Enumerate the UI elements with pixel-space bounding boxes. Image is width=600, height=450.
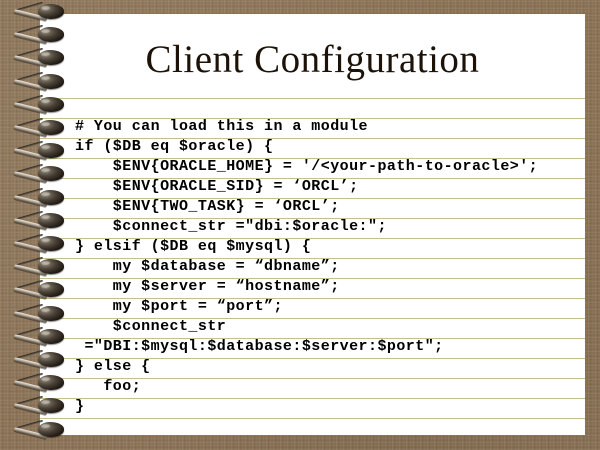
ring-wire-shadow <box>14 71 43 81</box>
code-line: $ENV{TWO_TASK} = ‘ORCL’; <box>75 197 585 217</box>
slide-canvas: Client Configuration # You can load this… <box>0 0 600 450</box>
page-title: Client Configuration <box>40 37 585 83</box>
ring-wire-shadow <box>14 350 43 360</box>
code-line: $ENV{ORACLE_HOME} = '/<your-path-to-orac… <box>75 157 585 177</box>
ring-wire-shadow <box>14 95 43 105</box>
code-line: ="DBI:$mysql:$database:$server:$port"; <box>75 337 585 357</box>
ring-wire-shadow <box>14 48 43 58</box>
code-block: # You can load this in a moduleif ($DB e… <box>75 117 585 417</box>
ruled-line <box>40 98 585 99</box>
ruled-line <box>40 418 585 419</box>
ring-wire-shadow <box>14 373 43 383</box>
code-line: $connect_str <box>75 317 585 337</box>
code-line: # You can load this in a module <box>75 117 585 137</box>
code-line: foo; <box>75 377 585 397</box>
ring-wire-shadow <box>14 164 43 174</box>
ring-wire-shadow <box>14 2 43 12</box>
code-line: $connect_str ="dbi:$oracle:"; <box>75 217 585 237</box>
code-line: my $database = “dbname”; <box>75 257 585 277</box>
notebook-page: Client Configuration # You can load this… <box>40 14 585 435</box>
ring-wire-shadow <box>14 280 43 290</box>
ring-wire-shadow <box>14 327 43 337</box>
ring-wire-shadow <box>14 211 43 221</box>
ring-wire-shadow <box>14 25 43 35</box>
code-line: } else { <box>75 357 585 377</box>
ring-head-highlight <box>41 6 50 10</box>
ring-wire-shadow <box>14 234 43 244</box>
ring-wire-shadow <box>14 303 43 313</box>
ring-wire-shadow <box>14 141 43 151</box>
code-line: } elsif ($DB eq $mysql) { <box>75 237 585 257</box>
code-line: my $server = “hostname”; <box>75 277 585 297</box>
ring-wire-shadow <box>14 257 43 267</box>
ring-wire-shadow <box>14 187 43 197</box>
ring-wire-shadow <box>14 419 43 429</box>
code-line: $ENV{ORACLE_SID} = ‘ORCL’; <box>75 177 585 197</box>
ring-wire-shadow <box>14 118 43 128</box>
code-line: } <box>75 397 585 417</box>
code-line: my $port = “port”; <box>75 297 585 317</box>
ring-wire-shadow <box>14 396 43 406</box>
code-line: if ($DB eq $oracle) { <box>75 137 585 157</box>
